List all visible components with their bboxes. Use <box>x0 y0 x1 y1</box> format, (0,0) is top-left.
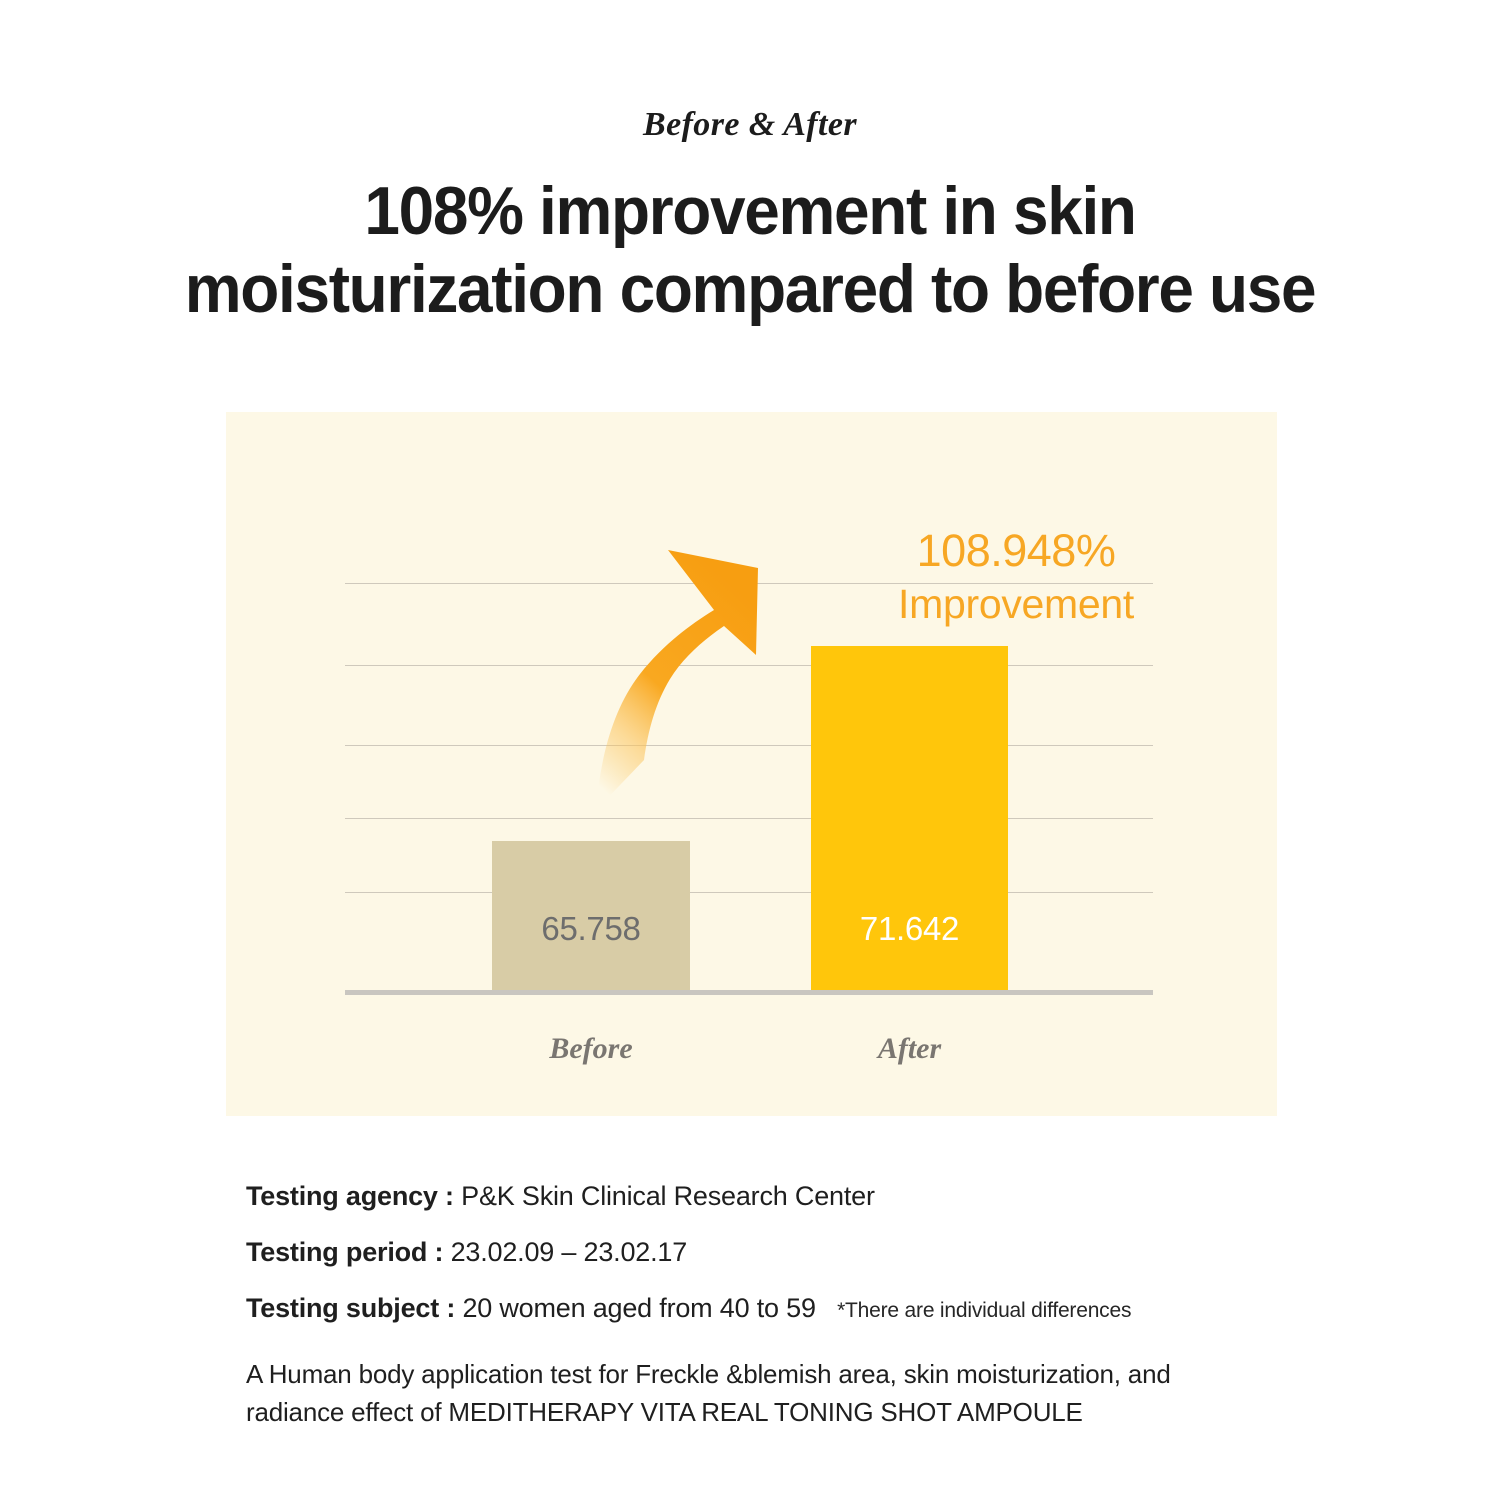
chart-baseline <box>345 990 1153 995</box>
footer-row: Testing agency : P&K Skin Clinical Resea… <box>246 1168 1306 1224</box>
footer-notes: Testing agency : P&K Skin Clinical Resea… <box>246 1168 1306 1431</box>
improvement-percent: 108.948% <box>796 524 1236 579</box>
bar-before[interactable]: 65.758 <box>492 841 690 990</box>
axis-label-before: Before <box>492 1032 690 1066</box>
eyebrow-label: Before & After <box>0 106 1500 144</box>
footer-row-key: Testing subject : <box>246 1293 455 1323</box>
gridline <box>345 818 1153 819</box>
footer-row-key: Testing agency : <box>246 1181 454 1211</box>
footer-row: Testing period : 23.02.09 – 23.02.17 <box>246 1224 1306 1280</box>
improvement-label: Improvement <box>796 579 1236 629</box>
footer-row-value: P&K Skin Clinical Research Center <box>461 1181 875 1211</box>
bar-after-value: 71.642 <box>811 910 1008 948</box>
footer-disclaimer: *There are individual differences <box>837 1299 1131 1322</box>
arrow-shape <box>596 550 758 810</box>
bar-after[interactable]: 71.642 <box>811 646 1008 990</box>
curved-up-arrow-icon <box>556 522 786 812</box>
footer-row-value: 20 women aged from 40 to 59 <box>462 1293 815 1323</box>
footer-row-key: Testing period : <box>246 1237 443 1267</box>
footer-paragraph: A Human body application test for Freckl… <box>246 1355 1256 1431</box>
bar-before-value: 65.758 <box>492 910 690 948</box>
footer-row-value: 23.02.09 – 23.02.17 <box>451 1237 687 1267</box>
axis-label-after: After <box>811 1032 1008 1066</box>
page-title: 108% improvement in skin moisturization … <box>101 172 1398 328</box>
footer-row: Testing subject : 20 women aged from 40 … <box>246 1280 1306 1339</box>
page-title-line-2: moisturization compared to before use <box>101 250 1398 328</box>
chart-panel: 108.948% Improvement 65.758 71.642 Befor… <box>226 412 1277 1116</box>
improvement-callout: 108.948% Improvement <box>796 524 1236 629</box>
gridline <box>345 892 1153 893</box>
page-title-line-1: 108% improvement in skin <box>101 172 1398 250</box>
